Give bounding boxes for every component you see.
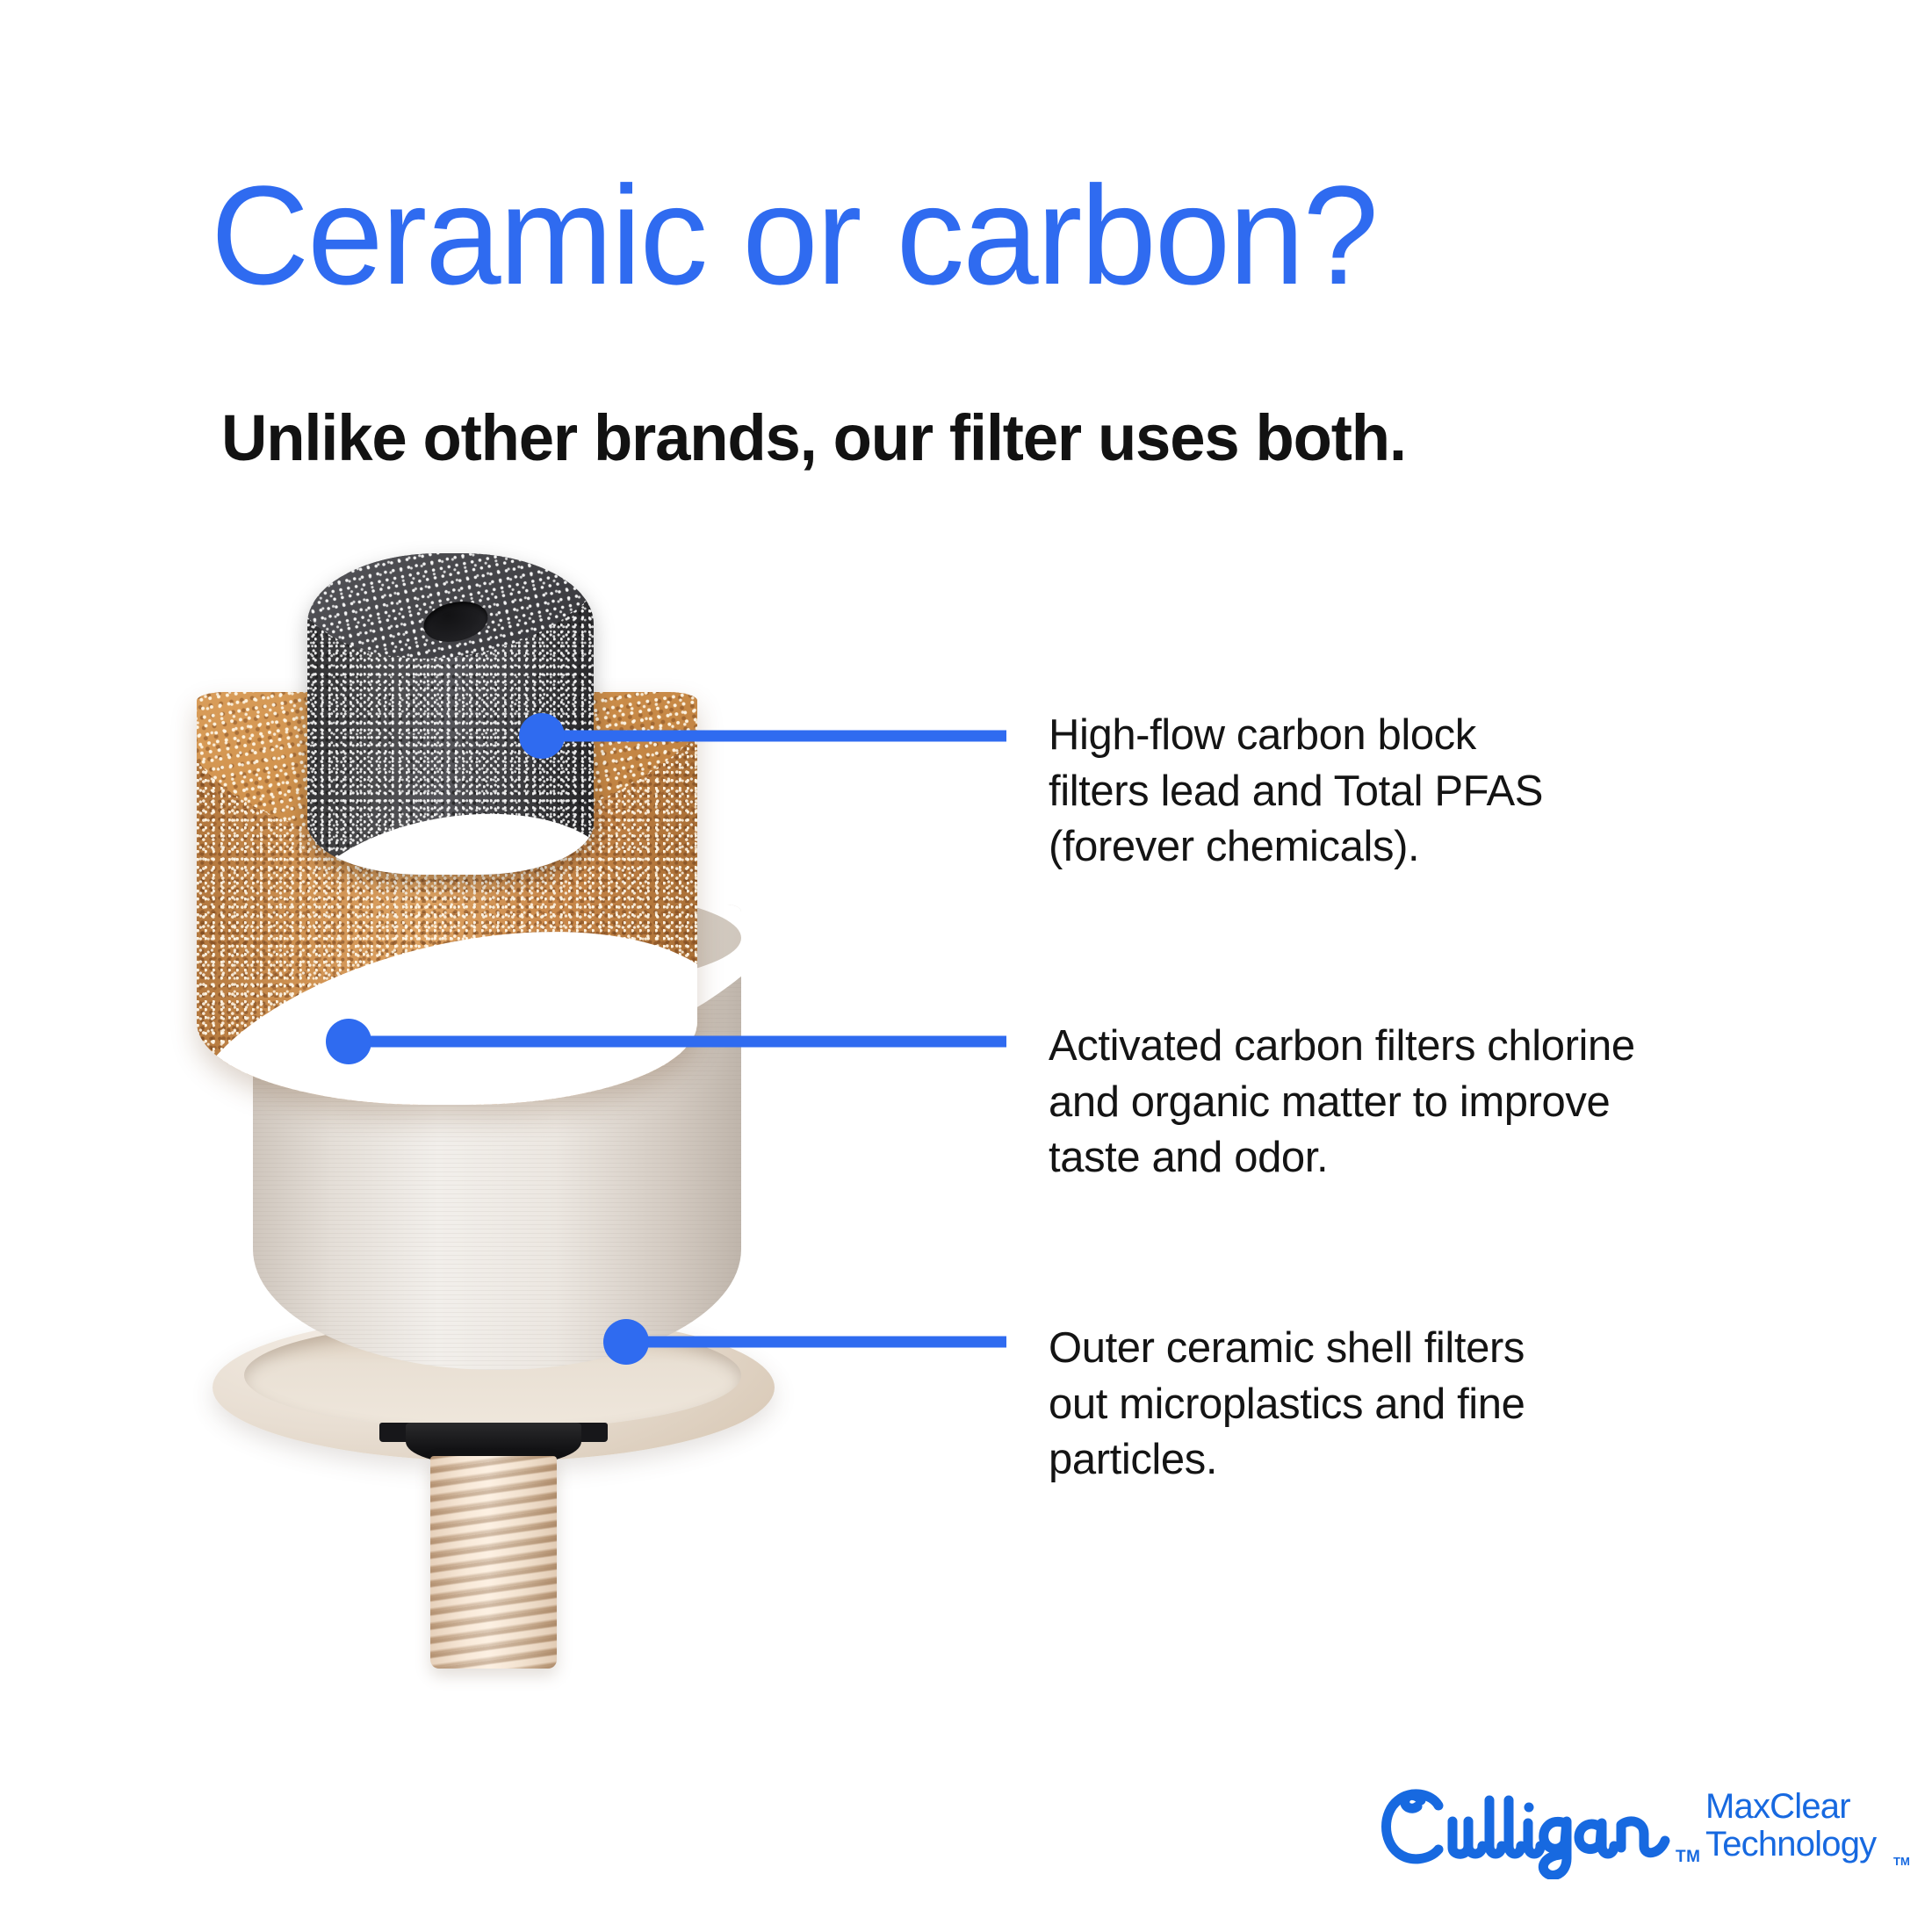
maxclear-line1: MaxClear [1705, 1788, 1899, 1826]
maxclear-trademark: TM [1893, 1855, 1910, 1868]
culligan-wordmark-icon [1370, 1783, 1677, 1879]
maxclear-technology-text: MaxClear Technology [1705, 1788, 1899, 1864]
callout-ceramic-shell: Outer ceramic shell filters out micropla… [1049, 1321, 1821, 1489]
carbon-block-core [307, 553, 594, 875]
callout-carbon-block-line3: (forever chemicals). [1049, 819, 1821, 876]
product-cutaway-image [176, 527, 896, 1827]
callout-activated-carbon-line1: Activated carbon filters chlorine [1049, 1019, 1839, 1075]
page-subtitle: Unlike other brands, our filter uses bot… [221, 404, 1684, 472]
infographic-canvas: Ceramic or carbon? Unlike other brands, … [0, 0, 1932, 1932]
callout-ceramic-shell-line2: out microplastics and fine [1049, 1377, 1821, 1433]
callout-carbon-block-line2: filters lead and Total PFAS [1049, 764, 1821, 820]
callout-carbon-block-line1: High-flow carbon block [1049, 708, 1821, 764]
brand-logo-lockup: TM MaxClear Technology TM [1370, 1783, 1897, 1914]
activated-carbon-cut [197, 883, 697, 1105]
callout-activated-carbon: Activated carbon filters chlorine and or… [1049, 1019, 1839, 1186]
page-title: Ceramic or carbon? [211, 165, 1693, 306]
callout-ceramic-shell-line1: Outer ceramic shell filters [1049, 1321, 1821, 1377]
carbon-block-base-mask [307, 792, 594, 875]
callout-ceramic-shell-line3: particles. [1049, 1432, 1821, 1489]
callout-activated-carbon-line3: taste and odor. [1049, 1130, 1839, 1186]
threaded-stem [430, 1456, 557, 1669]
callout-activated-carbon-line2: and organic matter to improve [1049, 1075, 1839, 1131]
maxclear-line2: Technology [1705, 1826, 1899, 1864]
callout-carbon-block: High-flow carbon block filters lead and … [1049, 708, 1821, 876]
culligan-trademark: TM [1676, 1848, 1700, 1867]
